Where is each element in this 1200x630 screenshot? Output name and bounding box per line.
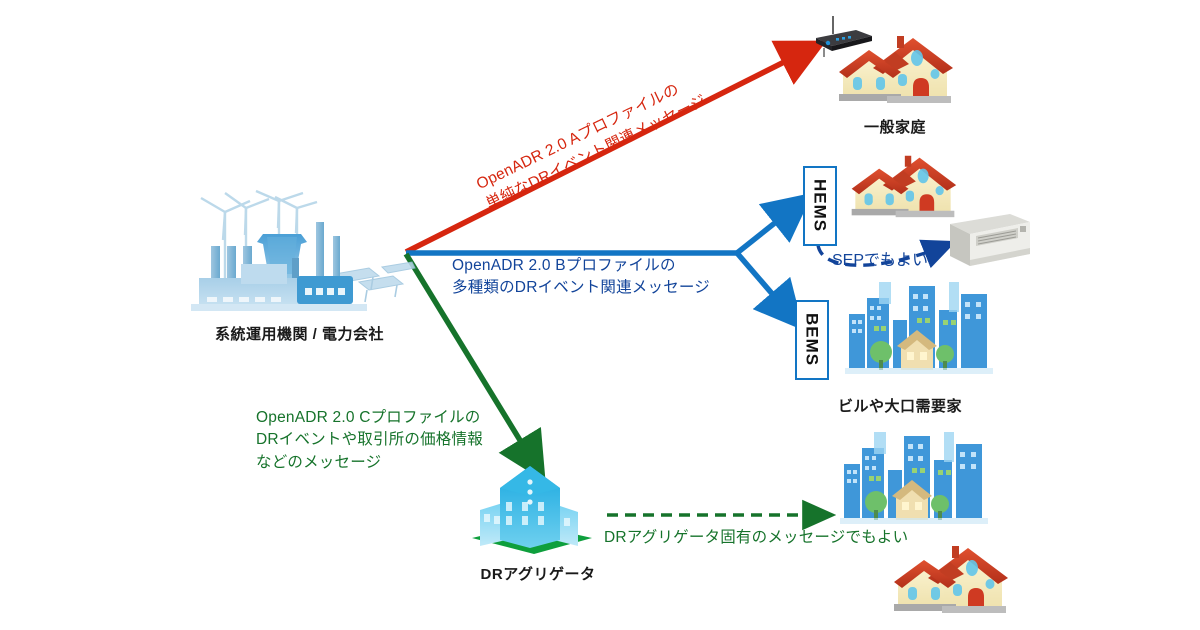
house-icon-hems xyxy=(848,150,958,222)
city-buildings-icon-bems xyxy=(845,280,993,384)
air-conditioner-icon xyxy=(948,210,1032,272)
hems-label: HEMS xyxy=(812,179,829,232)
aggregator-label: DRアグリゲータ xyxy=(458,563,618,584)
city-buildings-icon-2 xyxy=(840,430,988,534)
power-plant-icon xyxy=(183,182,415,314)
profile-c-label-group: OpenADR 2.0 Cプロファイルの DRイベントや取引所の価格情報 などの… xyxy=(256,407,483,474)
profile-b-line1: OpenADR 2.0 Bプロファイルの xyxy=(452,255,710,277)
diagram-canvas: 系統運用機関 / 電力会社 xyxy=(0,0,1200,630)
aggregator-own-label: DRアグリゲータ固有のメッセージでもよい xyxy=(604,527,908,549)
bems-label: BEMS xyxy=(804,313,821,366)
profile-c-line2: DRイベントや取引所の価格情報 xyxy=(256,429,483,451)
buildings-label: ビルや大口需要家 xyxy=(800,395,1000,416)
arrow-profile-b-to-hems xyxy=(737,203,800,253)
profile-c-line3: などのメッセージ xyxy=(256,452,483,474)
arrow-profile-b-to-bems xyxy=(737,253,793,318)
connector-layer xyxy=(0,0,1200,630)
profile-c-line1: OpenADR 2.0 Cプロファイルの xyxy=(256,407,483,429)
bems-box[interactable]: BEMS xyxy=(795,300,829,380)
house-icon-2 xyxy=(890,540,1010,618)
office-building-icon xyxy=(460,462,600,558)
hems-box[interactable]: HEMS xyxy=(803,166,837,246)
home-label: 一般家庭 xyxy=(815,116,975,137)
profile-b-line2: 多種類のDRイベント関連メッセージ xyxy=(452,277,710,299)
profile-b-label-group: OpenADR 2.0 Bプロファイルの 多種類のDRイベント関連メッセージ xyxy=(452,255,710,300)
sep-label: SEPでもよい xyxy=(832,246,928,270)
utility-label: 系統運用機関 / 電力会社 xyxy=(197,323,402,344)
house-icon-home xyxy=(835,30,955,108)
